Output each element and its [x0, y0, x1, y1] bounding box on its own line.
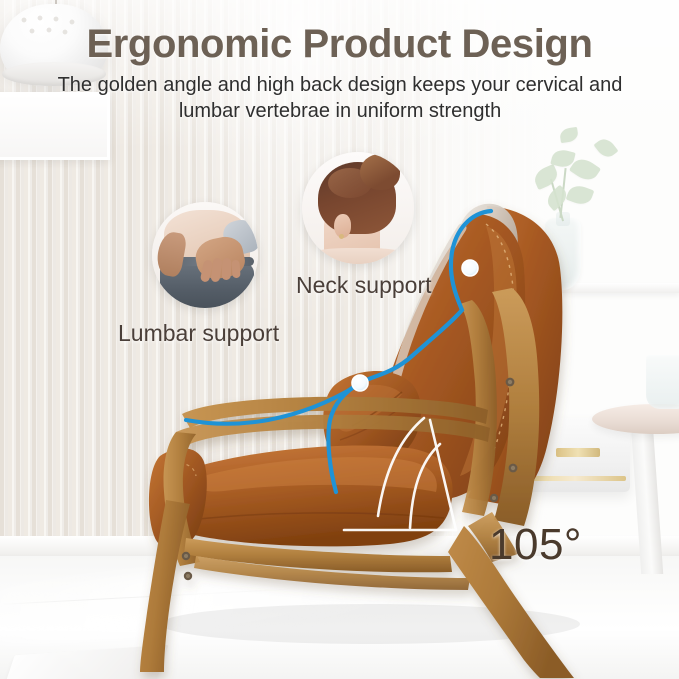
- person-finger: [222, 258, 232, 280]
- hair-bun: [360, 154, 400, 190]
- recline-angle-label: 105°: [489, 520, 582, 570]
- frame-screw-head: [511, 466, 515, 470]
- frame-screw-head: [184, 554, 188, 558]
- neck-support-photo: [302, 152, 414, 264]
- callout-label-lumbar: Lumbar support: [118, 320, 279, 347]
- person-earring: [339, 234, 344, 239]
- chair-front-leg: [140, 500, 190, 672]
- frame-screw-head: [508, 380, 512, 384]
- lumbar-support-node[interactable]: [352, 375, 368, 391]
- frame-screw-head: [492, 496, 496, 500]
- frame-screw-head: [186, 574, 190, 578]
- callout-label-neck: Neck support: [296, 272, 432, 299]
- lumbar-support-photo: [152, 202, 258, 308]
- person-shoulder: [302, 248, 414, 264]
- product-infographic: Ergonomic Product Design The golden angl…: [0, 0, 679, 679]
- page-subtitle: The golden angle and high back design ke…: [40, 72, 640, 124]
- neck-support-node[interactable]: [462, 260, 478, 276]
- page-title: Ergonomic Product Design: [0, 22, 679, 67]
- person-finger: [231, 260, 240, 279]
